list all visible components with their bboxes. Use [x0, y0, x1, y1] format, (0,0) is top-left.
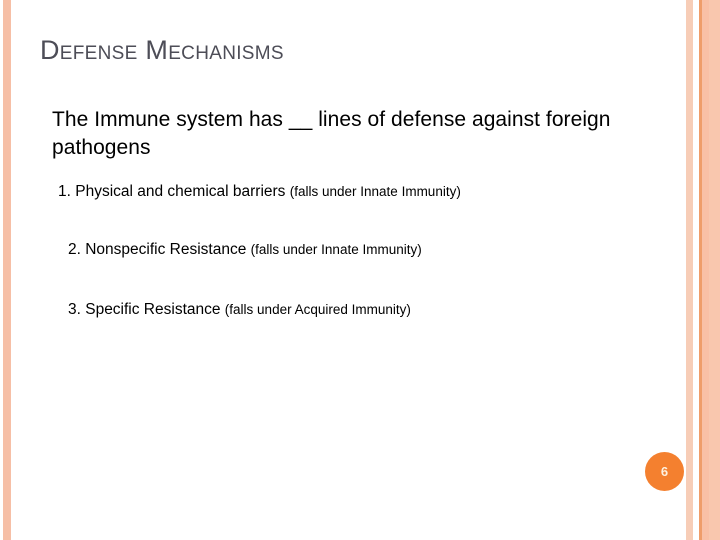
list-item: 3. Specific Resistance (falls under Acqu…	[68, 301, 652, 320]
page-number-badge: 6	[645, 452, 684, 491]
page-title: Defense Mechanisms	[40, 36, 640, 66]
page-number-text: 6	[661, 465, 668, 478]
right-edge-stripe-outer	[686, 0, 693, 540]
lead-paragraph: The Immune system has __ lines of defens…	[52, 106, 652, 162]
list-item-parenthetical: (falls under Innate Immunity)	[290, 184, 461, 199]
list-item-main: 1. Physical and chemical barriers	[58, 183, 290, 200]
left-edge-stripe	[3, 0, 11, 540]
right-edge-stripe-inner	[709, 0, 720, 540]
list-item: 2. Nonspecific Resistance (falls under I…	[68, 241, 652, 260]
list-item-main: 3. Specific Resistance	[68, 301, 225, 318]
defense-lines-list: 1. Physical and chemical barriers (falls…	[52, 183, 652, 320]
list-item: 1. Physical and chemical barriers (falls…	[58, 183, 652, 202]
list-item-parenthetical: (falls under Innate Immunity)	[251, 242, 422, 257]
list-item-main: 2. Nonspecific Resistance	[68, 241, 251, 258]
right-edge-stripe-mid	[702, 0, 709, 540]
title-block: Defense Mechanisms	[40, 36, 640, 66]
content-block: The Immune system has __ lines of defens…	[52, 106, 652, 320]
slide-canvas: Defense Mechanisms The Immune system has…	[0, 0, 720, 540]
list-item-parenthetical: (falls under Acquired Immunity)	[225, 302, 411, 317]
